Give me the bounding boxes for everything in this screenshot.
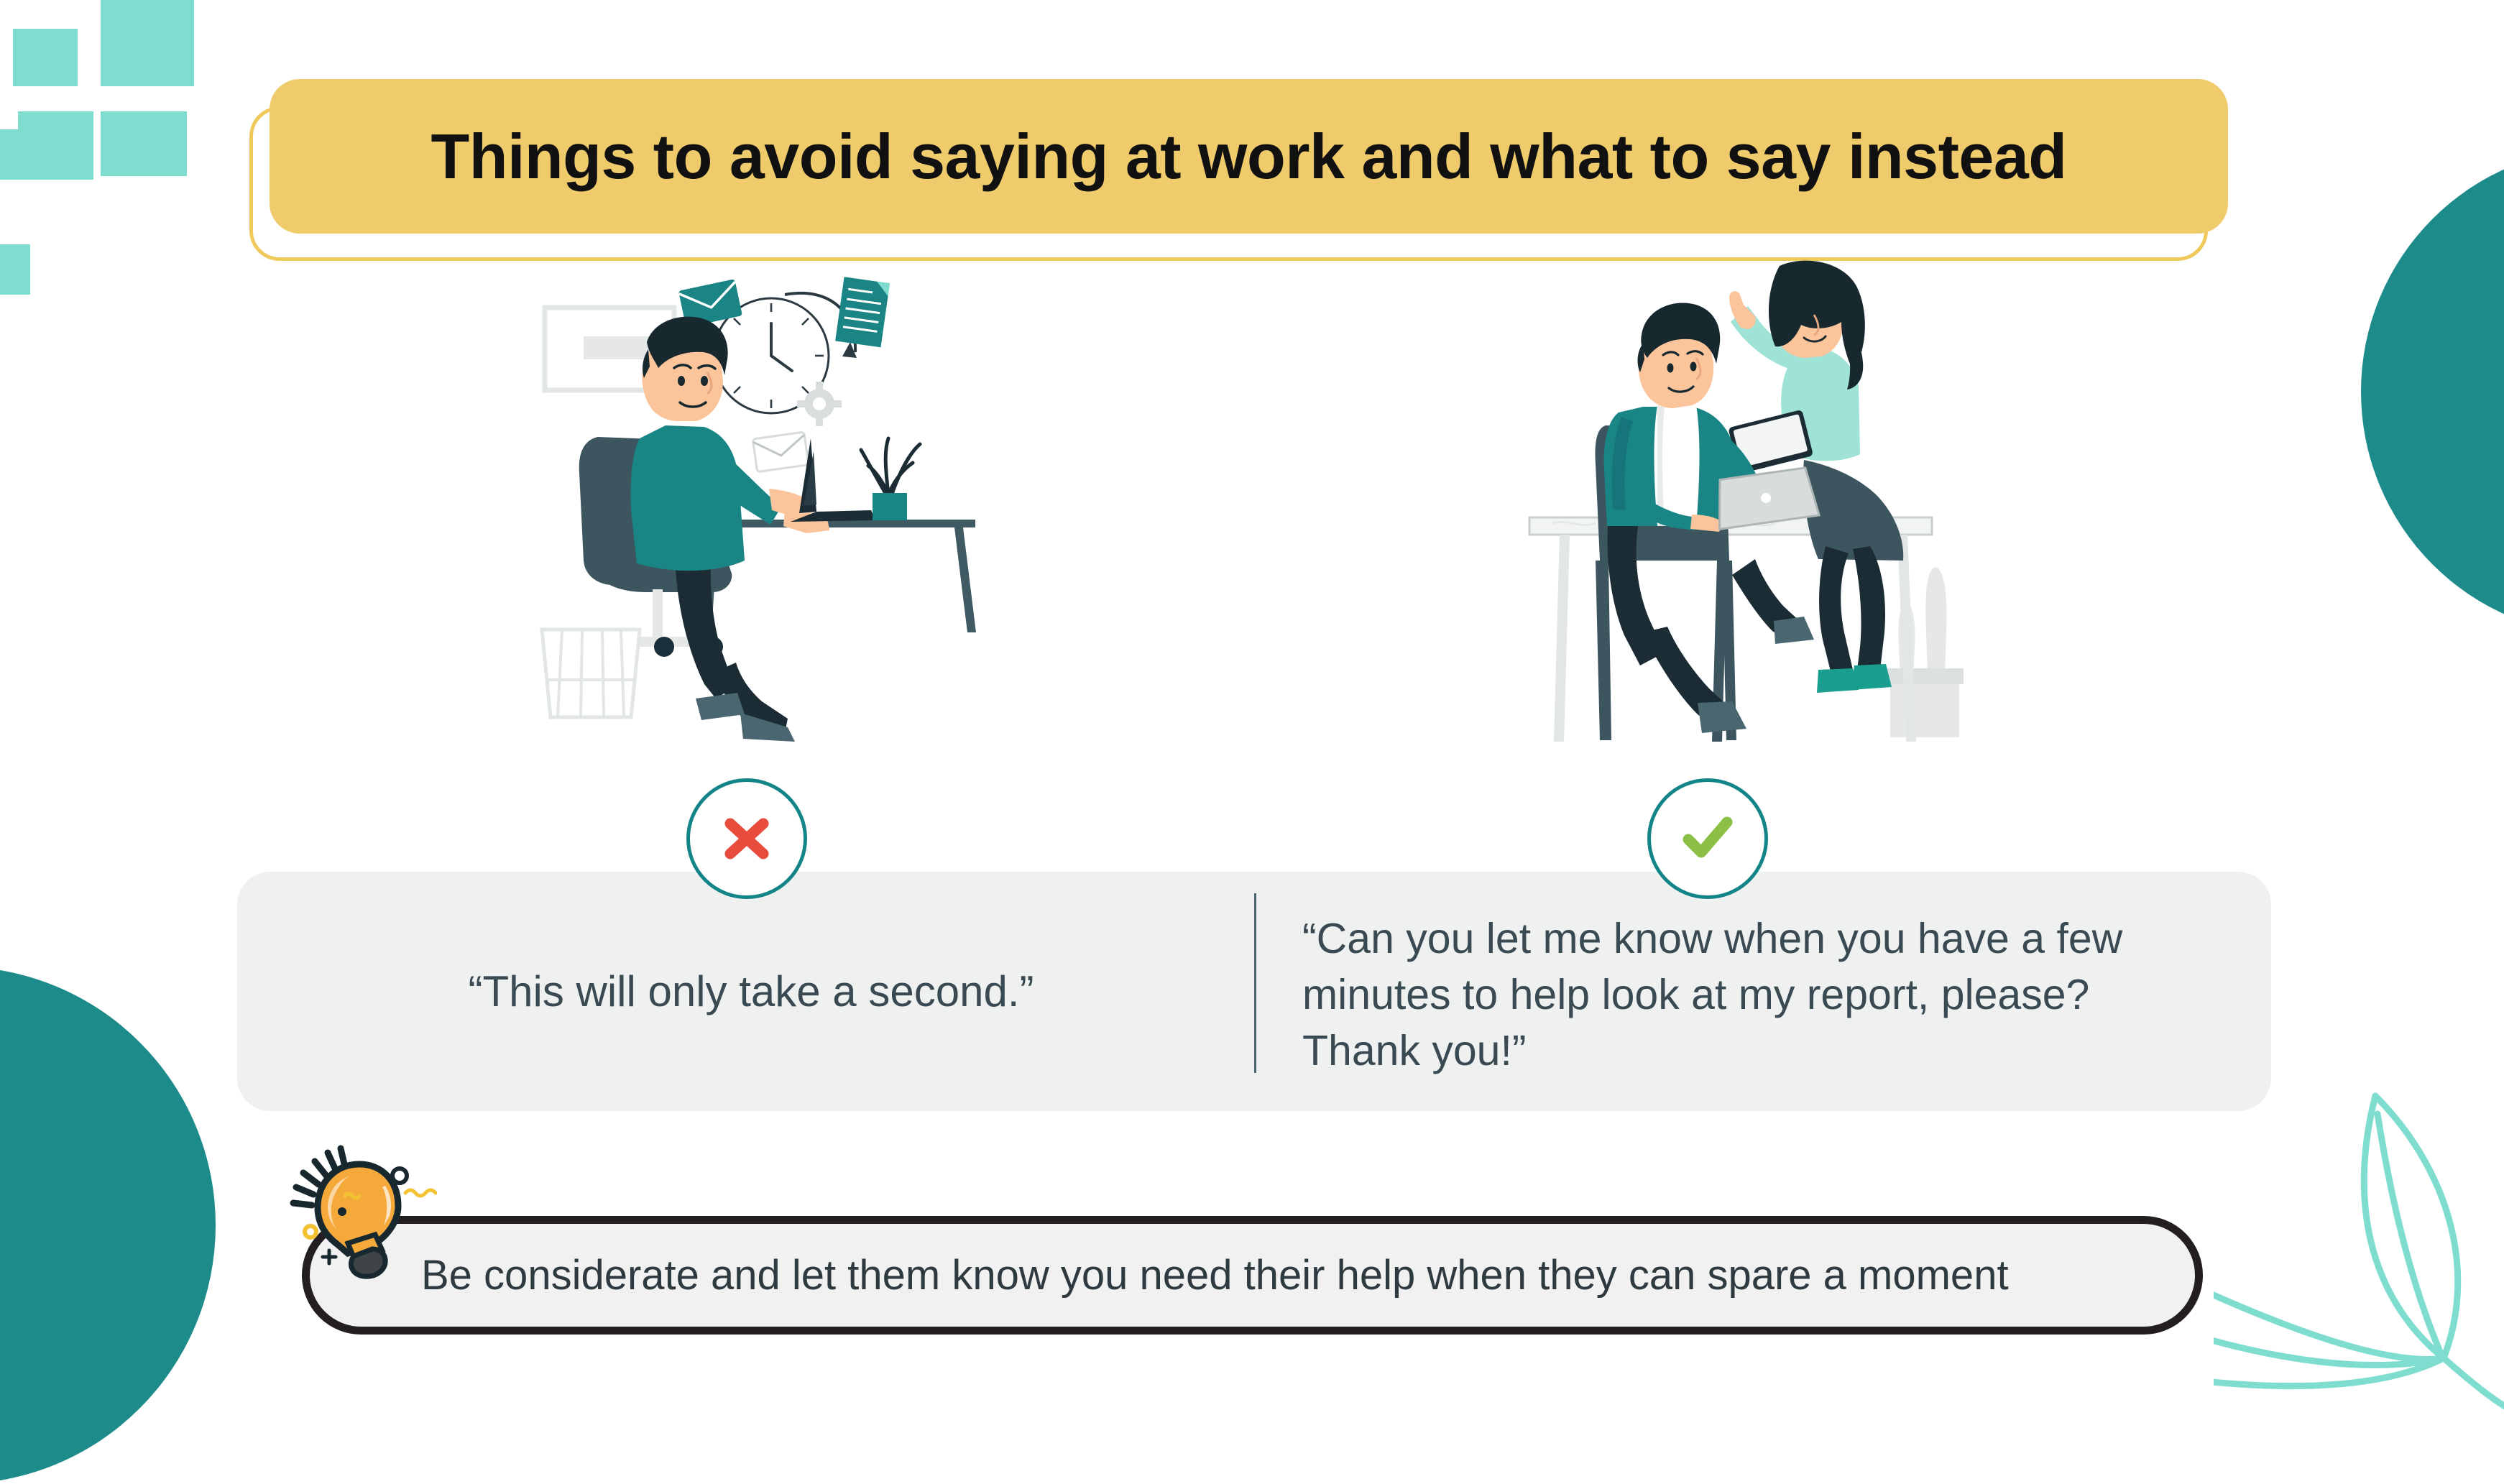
tip-text: Be considerate and let them know you nee… bbox=[310, 1251, 2009, 1299]
mint-blob-icon bbox=[0, 129, 33, 180]
title-banner-fill: Things to avoid saying at work and what … bbox=[270, 79, 2228, 234]
quote-good-text: “Can you let me know when you have a few… bbox=[1302, 911, 2208, 1079]
illustration-man-typing-at-desk bbox=[532, 273, 1006, 791]
cross-icon bbox=[716, 808, 778, 870]
mint-blob-icon bbox=[13, 29, 78, 86]
status-badge-bad bbox=[686, 778, 807, 899]
panel-divider bbox=[1254, 893, 1256, 1073]
illustration-coworkers-collaborating bbox=[1516, 259, 1976, 776]
title-banner: Things to avoid saying at work and what … bbox=[270, 79, 2228, 234]
mint-blob-icon bbox=[101, 111, 187, 176]
tip-bar: Be considerate and let them know you nee… bbox=[302, 1216, 2203, 1335]
mint-leaves-icon bbox=[2214, 1056, 2504, 1416]
page-title: Things to avoid saying at work and what … bbox=[431, 120, 2066, 193]
mint-blob-icon bbox=[18, 111, 93, 180]
quote-good-example: “Can you let me know when you have a few… bbox=[1302, 888, 2208, 1103]
mint-blob-icon bbox=[0, 244, 30, 295]
status-badge-good bbox=[1647, 778, 1768, 899]
check-icon bbox=[1677, 808, 1739, 870]
teal-circle-right bbox=[2361, 147, 2504, 636]
lightbulb-icon bbox=[279, 1135, 437, 1301]
quote-bad-example: “This will only take a second.” bbox=[287, 872, 1215, 1111]
quote-bad-text: “This will only take a second.” bbox=[469, 967, 1034, 1016]
mint-blob-icon bbox=[101, 0, 194, 86]
teal-circle-left bbox=[0, 967, 216, 1484]
